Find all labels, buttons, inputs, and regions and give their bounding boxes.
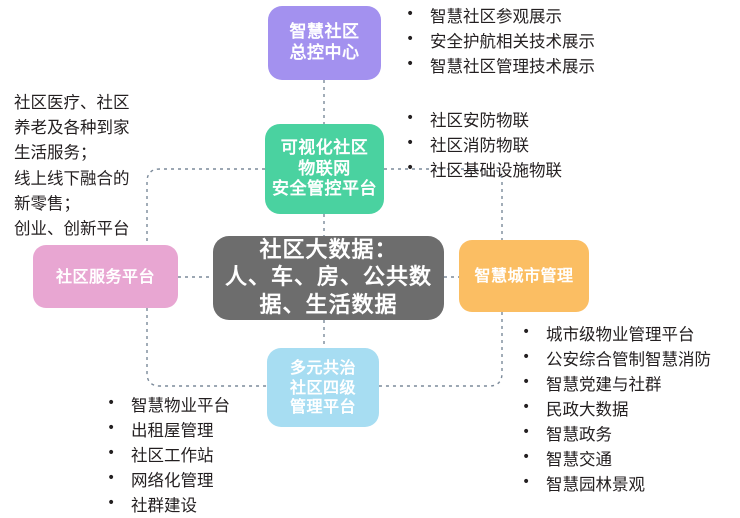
node-service-platform[interactable]: 社区服务平台 bbox=[33, 245, 178, 308]
list-item: 安全护航相关技术展示 bbox=[404, 29, 595, 54]
text-block-service-platform: 社区医疗、社区 养老及各种到家 生活服务； 线上线下融合的 新零售； 创业、创新… bbox=[14, 90, 130, 241]
list-item: 出租屋管理 bbox=[105, 418, 230, 443]
node-governance-line-2: 社区四级 bbox=[290, 378, 356, 398]
list-item: 智慧园林景观 bbox=[520, 472, 711, 497]
node-governance-line-3: 管理平台 bbox=[290, 397, 356, 417]
diagram-canvas: 智慧社区 总控中心 可视化社区 物联网 安全管控平台 社区大数据： 人、车、房、… bbox=[0, 0, 740, 512]
node-big-data[interactable]: 社区大数据： 人、车、房、公共数 据、生活数据 bbox=[213, 236, 444, 320]
bullet-list-iot-platform: 社区安防物联 社区消防物联 社区基础设施物联 bbox=[404, 108, 562, 183]
bullet-list-city-management: 城市级物业管理平台 公安综合管制智慧消防 智慧党建与社群 民政大数据 智慧政务 … bbox=[520, 322, 711, 498]
list-item: 智慧政务 bbox=[520, 422, 711, 447]
text-line: 社区医疗、社区 bbox=[14, 90, 130, 115]
node-big-data-line-2: 人、车、房、公共数 bbox=[225, 264, 432, 292]
bullet-list-control-center: 智慧社区参观展示 安全护航相关技术展示 智慧社区管理技术展示 bbox=[404, 4, 595, 79]
text-line: 创业、创新平台 bbox=[14, 216, 130, 241]
node-control-center[interactable]: 智慧社区 总控中心 bbox=[268, 6, 381, 80]
list-item: 智慧社区参观展示 bbox=[404, 4, 595, 29]
list-item: 社区基础设施物联 bbox=[404, 158, 562, 183]
node-city-management[interactable]: 智慧城市管理 bbox=[459, 240, 589, 312]
connector-ring-bottom-right bbox=[379, 312, 502, 386]
node-service-platform-line-1: 社区服务平台 bbox=[56, 267, 155, 287]
list-item: 社区工作站 bbox=[105, 443, 230, 468]
node-control-center-line-2: 总控中心 bbox=[290, 43, 360, 64]
list-item: 网络化管理 bbox=[105, 468, 230, 493]
list-item: 智慧物业平台 bbox=[105, 393, 230, 418]
list-item: 社区消防物联 bbox=[404, 133, 562, 158]
node-iot-platform-line-1: 可视化社区 bbox=[272, 138, 377, 159]
list-item: 城市级物业管理平台 bbox=[520, 322, 711, 347]
node-iot-platform-line-2: 物联网 bbox=[272, 159, 377, 180]
node-iot-platform[interactable]: 可视化社区 物联网 安全管控平台 bbox=[265, 124, 384, 214]
list-item: 民政大数据 bbox=[520, 397, 711, 422]
text-line: 线上线下融合的 bbox=[14, 166, 130, 191]
text-line: 养老及各种到家 bbox=[14, 115, 130, 140]
bullet-list-governance: 智慧物业平台 出租屋管理 社区工作站 网络化管理 社群建设 bbox=[105, 393, 230, 518]
list-item: 公安综合管制智慧消防 bbox=[520, 347, 711, 372]
node-iot-platform-line-3: 安全管控平台 bbox=[272, 179, 377, 200]
list-item: 社群建设 bbox=[105, 493, 230, 518]
list-item: 社区安防物联 bbox=[404, 108, 562, 133]
text-line: 生活服务； bbox=[14, 140, 130, 165]
node-city-management-line-1: 智慧城市管理 bbox=[474, 266, 573, 286]
text-line: 新零售； bbox=[14, 191, 130, 216]
node-governance[interactable]: 多元共治 社区四级 管理平台 bbox=[267, 348, 379, 427]
node-big-data-line-3: 据、生活数据 bbox=[225, 292, 432, 320]
connector-ring-top-left bbox=[147, 169, 265, 245]
list-item: 智慧交通 bbox=[520, 447, 711, 472]
node-big-data-line-1: 社区大数据： bbox=[225, 237, 432, 265]
node-control-center-line-1: 智慧社区 bbox=[290, 22, 360, 43]
node-governance-line-1: 多元共治 bbox=[290, 358, 356, 378]
list-item: 智慧党建与社群 bbox=[520, 372, 711, 397]
list-item: 智慧社区管理技术展示 bbox=[404, 54, 595, 79]
